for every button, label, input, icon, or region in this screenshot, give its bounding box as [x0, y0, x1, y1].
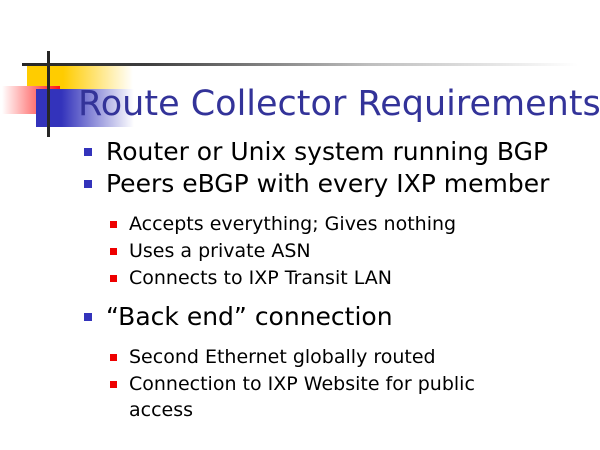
slide-body: Router or Unix system running BGP Peers …: [0, 136, 600, 424]
bullet-marker-red-icon: [110, 275, 117, 282]
bullet-text: Uses a private ASN: [129, 238, 311, 264]
bullet-text: Router or Unix system running BGP: [106, 136, 548, 167]
bullet-item-level2: Connects to IXP Transit LAN: [110, 265, 600, 291]
bullet-item-level1: Router or Unix system running BGP: [84, 136, 600, 167]
bullet-marker-blue-icon: [84, 180, 92, 188]
bullet-item-level2: Uses a private ASN: [110, 238, 600, 264]
bullet-item-level2: Connection to IXP Website for public acc…: [110, 371, 600, 423]
bullet-marker-blue-icon: [84, 148, 92, 156]
slide-title: Route Collector Requirements: [78, 84, 588, 124]
bullet-marker-red-icon: [110, 221, 117, 228]
bullet-item-level2: Second Ethernet globally routed: [110, 344, 600, 370]
bullet-text: Connection to IXP Website for public acc…: [129, 371, 529, 423]
title-underline-rule: [22, 63, 578, 66]
bullet-text: Second Ethernet globally routed: [129, 344, 436, 370]
bullet-item-level2: Accepts everything; Gives nothing: [110, 211, 600, 237]
bullet-text: “Back end” connection: [106, 301, 393, 332]
bullet-item-level1: Peers eBGP with every IXP member: [84, 168, 600, 199]
bullet-text: Accepts everything; Gives nothing: [129, 211, 456, 237]
motif-red-block: [2, 86, 60, 114]
bullet-marker-red-icon: [110, 354, 117, 361]
bullet-text: Connects to IXP Transit LAN: [129, 265, 392, 291]
bullet-marker-blue-icon: [84, 313, 92, 321]
bullet-marker-red-icon: [110, 381, 117, 388]
bullet-item-level1: “Back end” connection: [84, 301, 600, 332]
bullet-marker-red-icon: [110, 248, 117, 255]
bullet-text: Peers eBGP with every IXP member: [106, 168, 549, 199]
